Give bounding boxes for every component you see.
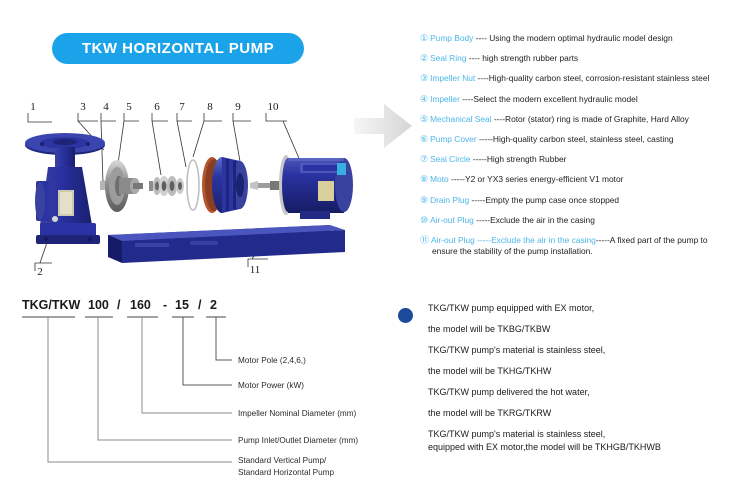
legend-dash: ---- (492, 114, 505, 124)
legend-description: Rotor (stator) ring is made of Graphite,… (505, 114, 689, 124)
model-label-power: Motor Power (kW) (238, 381, 304, 390)
callout-11: 11 (250, 264, 261, 276)
legend-description: Exclude the air in the casing (490, 215, 595, 225)
callout-1: 1 (30, 101, 36, 113)
legend-description: Empty the pump case once stopped (485, 195, 619, 205)
parts-legend: ①Pump Body ---- Using the modern optimal… (420, 33, 756, 266)
legend-part-name: Impeller Nut (430, 73, 475, 83)
model-label-horizontal: Standard Horizontal Pump (238, 468, 334, 477)
legend-dash: ---- (475, 73, 488, 83)
mechanical-seal-part (149, 176, 184, 196)
legend-part-name: Mechanical Seal (430, 114, 491, 124)
legend-description: high strength rubber parts (482, 53, 578, 63)
callout-8: 8 (207, 101, 213, 113)
legend-part-name: Air-out Plug (430, 215, 474, 225)
model-leader-power (183, 317, 232, 385)
legend-part-name: Drain Plug (430, 195, 469, 205)
legend-item: ⑩Air-out Plug -----Exclude the air in th… (420, 215, 756, 226)
legend-number: ⑤ (420, 114, 428, 124)
model-token-power: 15 (175, 298, 189, 312)
note-line: TKG/TKW pump delivered the hot water, (428, 387, 756, 398)
legend-dash: ----- (475, 235, 491, 245)
motor-part (279, 155, 353, 219)
pump-body-part (25, 133, 105, 244)
legend-dash: ---- (473, 33, 489, 43)
page-title: TKW HORIZONTAL PUMP (82, 40, 274, 57)
legend-item: ⑦Seal Circle -----High strength Rubber (420, 154, 756, 165)
callout-9: 9 (235, 101, 241, 113)
model-label-vertical: Standard Vertical Pump/ (238, 456, 327, 465)
legend-item: ⑪Air-out Plug -----Exclude the air in th… (420, 235, 756, 257)
right-arrow (352, 100, 414, 152)
legend-number: ③ (420, 73, 428, 83)
legend-dash: ----- (449, 174, 465, 184)
model-token-pole: 2 (210, 298, 217, 312)
model-leader-pole (216, 317, 232, 360)
callout-7: 7 (179, 101, 185, 113)
callout-10: 10 (268, 101, 280, 113)
legend-part-name: Pump Body (430, 33, 473, 43)
legend-item: ②Seal Ring ---- high strength rubber par… (420, 53, 756, 64)
legend-number: ⑦ (420, 154, 428, 164)
legend-description-continued: ensure the stability of the pump install… (432, 246, 756, 257)
note-line: TKG/TKW pump's material is stainless ste… (428, 345, 756, 356)
model-variant-notes: TKG/TKW pump equipped with EX motor, the… (398, 303, 756, 453)
exploded-pump-diagram: 1 3 4 5 6 7 8 9 10 2 11 (0, 95, 370, 290)
model-label-pole: Motor Pole (2,4,6,) (238, 356, 306, 365)
legend-item: ⑨Drain Plug -----Empty the pump case onc… (420, 195, 756, 206)
legend-dash: ----- (469, 195, 485, 205)
legend-part-name: Seal Circle (430, 154, 471, 164)
legend-dash: ----- (474, 215, 490, 225)
callout-3: 3 (80, 101, 86, 113)
model-token-impeller: 160 (130, 298, 151, 312)
note-line: equipped with EX motor,the model will be… (428, 442, 756, 453)
legend-item: ③Impeller Nut ----High-quality carbon st… (420, 73, 756, 84)
legend-dash: ---- (466, 53, 482, 63)
legend-dash-2: ----- (596, 235, 610, 245)
legend-number: ⑩ (420, 215, 428, 225)
callout-5: 5 (126, 101, 132, 113)
callout-4: 4 (103, 101, 109, 113)
legend-part-name: Impeller (430, 94, 460, 104)
model-code-breakdown: TKG/TKW 100 / 160 - 15 / 2 (0, 295, 380, 495)
note-line: the model will be TKHG/TKHW (428, 366, 756, 377)
base-plate-part (108, 225, 345, 263)
legend-description: Using the modern optimal hydraulic model… (489, 33, 672, 43)
legend-part-name: Air-out Plug (431, 235, 475, 245)
legend-dash: ---- (460, 94, 473, 104)
callout-2: 2 (37, 266, 43, 278)
legend-number: ⑪ (420, 235, 429, 245)
bullet-dot-icon (398, 308, 413, 323)
legend-description: Y2 or YX3 series energy-efficient V1 mot… (465, 174, 623, 184)
note-line: the model will be TKRG/TKRW (428, 408, 756, 419)
shaft-part (250, 181, 284, 190)
legend-item: ⑤Mechanical Seal ----Rotor (stator) ring… (420, 114, 756, 125)
legend-item: ①Pump Body ---- Using the modern optimal… (420, 33, 756, 44)
legend-number: ② (420, 53, 428, 63)
legend-description-blue: Exclude the air in the casing (491, 235, 596, 245)
legend-item: ④Impeller ----Select the modern excellen… (420, 94, 756, 105)
legend-item: ⑧Moto -----Y2 or YX3 series energy-effic… (420, 174, 756, 185)
model-token-slash-2: / (198, 298, 202, 312)
impeller-part (105, 160, 143, 212)
model-label-inlet: Pump Inlet/Outlet Diameter (mm) (238, 436, 358, 445)
legend-dash: ----- (477, 134, 493, 144)
legend-part-name: Moto (430, 174, 449, 184)
model-token-slash-1: / (117, 298, 121, 312)
note-line: TKG/TKW pump equipped with EX motor, (428, 303, 756, 314)
legend-number: ⑥ (420, 134, 428, 144)
legend-description: High-quality carbon steel, corrosion-res… (489, 73, 710, 83)
callout-6: 6 (154, 101, 160, 113)
legend-part-name: Pump Cover (430, 134, 477, 144)
legend-number: ⑨ (420, 195, 428, 205)
pump-cover-part (202, 157, 248, 213)
title-banner: TKW HORIZONTAL PUMP (52, 33, 304, 64)
legend-description: High strength Rubber (487, 154, 567, 164)
legend-dash: ----- (471, 154, 487, 164)
note-line: the model will be TKBG/TKBW (428, 324, 756, 335)
note-line: TKG/TKW pump's material is stainless ste… (428, 429, 756, 440)
legend-part-name: Seal Ring (430, 53, 466, 63)
model-token-dash: - (163, 298, 167, 312)
model-token-prefix: TKG/TKW (22, 298, 81, 312)
legend-description: High-quality carbon steel, stainless ste… (493, 134, 674, 144)
model-leader-inlet (98, 317, 232, 440)
model-label-impeller: Impeller Nominal Diameter (mm) (238, 409, 357, 418)
legend-number: ① (420, 33, 428, 43)
legend-description: Select the modern excellent hydraulic mo… (473, 94, 637, 104)
legend-number: ⑧ (420, 174, 428, 184)
model-token-inlet: 100 (88, 298, 109, 312)
legend-description: A fixed part of the pump to (610, 235, 708, 245)
model-leader-impeller (142, 317, 232, 413)
seal-circle-part (187, 160, 199, 210)
legend-number: ④ (420, 94, 428, 104)
legend-item: ⑥Pump Cover -----High-quality carbon ste… (420, 134, 756, 145)
